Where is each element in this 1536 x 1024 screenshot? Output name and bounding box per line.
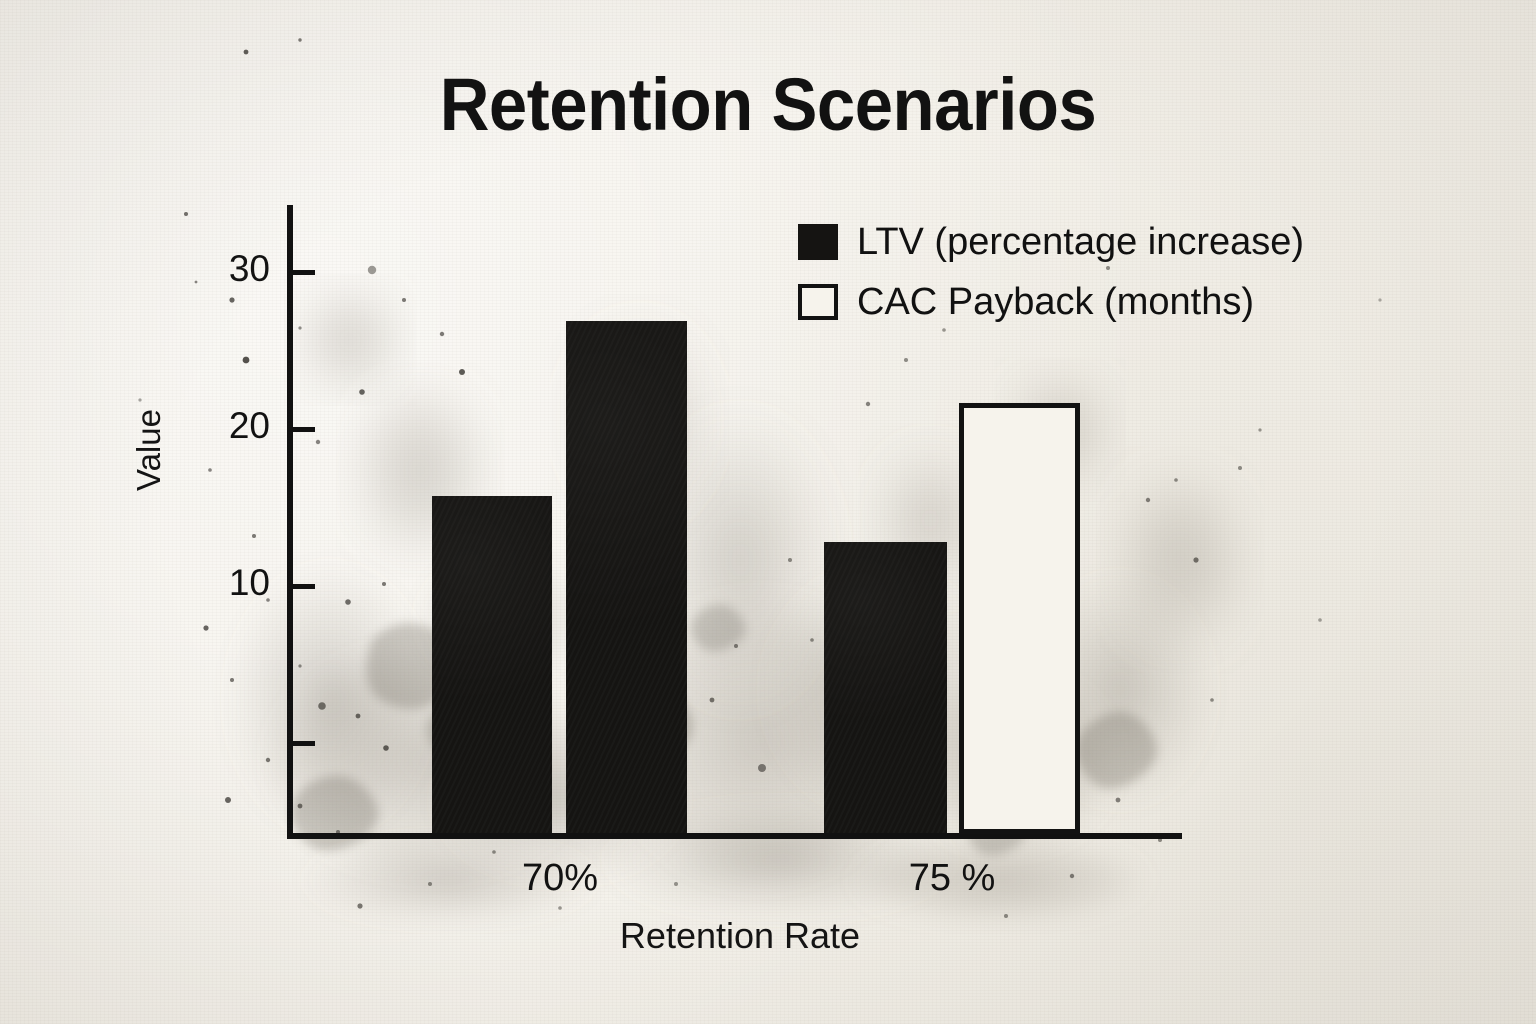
legend-item-cac[interactable]: CAC Payback (months) bbox=[798, 272, 1304, 332]
x-tick-label-75: 75 % bbox=[822, 857, 1082, 900]
y-tick-mark-30 bbox=[293, 270, 315, 275]
chart-title: Retention Scenarios bbox=[54, 62, 1482, 147]
x-axis-title: Retention Rate bbox=[290, 915, 1190, 957]
y-axis-title: Value bbox=[130, 360, 168, 540]
x-tick-label-70: 70% bbox=[430, 857, 690, 900]
paper-texture bbox=[0, 0, 1536, 1024]
y-tick-mark-20 bbox=[293, 427, 315, 432]
paper-vignette bbox=[0, 0, 1536, 1024]
bar-70-cac bbox=[566, 321, 687, 833]
bar-texture bbox=[566, 321, 687, 833]
watercolor-splatter bbox=[0, 0, 1536, 1024]
y-tick-label-30: 30 bbox=[180, 248, 270, 290]
legend-swatch-filled-square-icon bbox=[798, 224, 838, 260]
y-tick-label-10: 10 bbox=[180, 562, 270, 604]
legend-label-ltv: LTV (percentage increase) bbox=[857, 221, 1304, 264]
bar-texture bbox=[432, 496, 552, 833]
bar-75-cac bbox=[959, 403, 1080, 834]
y-tick-mark-0 bbox=[293, 741, 315, 746]
legend-swatch-outlined-square-icon bbox=[798, 284, 838, 320]
legend-label-cac: CAC Payback (months) bbox=[857, 281, 1254, 324]
y-tick-mark-10 bbox=[293, 584, 315, 589]
chart-canvas: Retention Scenarios 30 20 10 Value Reten… bbox=[0, 0, 1536, 1024]
bar-texture bbox=[824, 542, 947, 833]
bar-70-ltv bbox=[432, 496, 552, 833]
bar-75-ltv bbox=[824, 542, 947, 833]
legend-item-ltv[interactable]: LTV (percentage increase) bbox=[798, 212, 1304, 272]
y-tick-label-20: 20 bbox=[180, 405, 270, 447]
chart-legend: LTV (percentage increase) CAC Payback (m… bbox=[798, 212, 1304, 332]
